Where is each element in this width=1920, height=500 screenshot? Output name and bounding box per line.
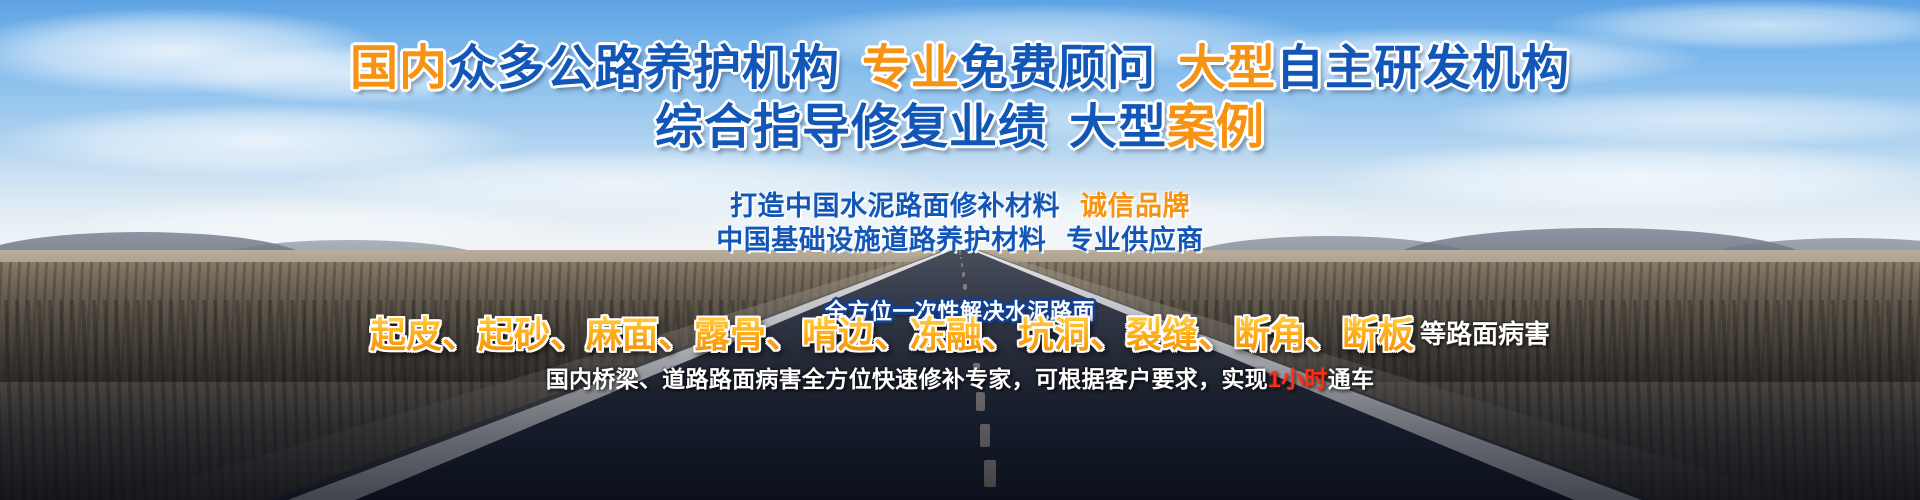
headline-seg-daxing2: 大型 [1069, 101, 1167, 154]
headline-seg-mianfei: 免费顾问 [960, 42, 1156, 95]
subcopy-line-2: 中国基础设施道路养护材料专业供应商 [0, 223, 1920, 258]
subcopy-seg-chengxin: 诚信品牌 [1080, 191, 1190, 221]
claim-prefix: 国内桥梁、道路路面病害全方位快速修补专家，可根据客户要求，实现 [546, 366, 1268, 392]
headline-seg-zhongduo: 众多公路养护机构 [448, 42, 840, 95]
headline-seg-anli: 案例 [1167, 101, 1265, 154]
disease-list-text: 起皮、起砂、麻面、露骨、啃边、冻融、坑洞、裂缝、断角、断板 [370, 314, 1414, 355]
subcopy-seg-zhongguo: 中国基础设施道路养护材料 [716, 225, 1046, 255]
headline-line-1: 国内众多公路养护机构专业免费顾问大型自主研发机构 [0, 45, 1920, 93]
claim-highlight-duration: 1小时 [1268, 366, 1328, 392]
headline-line-2: 综合指导修复业绩大型案例 [0, 104, 1920, 152]
headline-seg-guonei: 国内 [350, 42, 448, 95]
bottom-claim-text: 国内桥梁、道路路面病害全方位快速修补专家，可根据客户要求，实现1小时通车 [0, 360, 1920, 394]
headline-seg-zhuanye: 专业 [862, 42, 960, 95]
disease-list-suffix: 等路面病害 [1420, 319, 1550, 349]
bottom-disease-list: 起皮、起砂、麻面、露骨、啃边、冻融、坑洞、裂缝、断角、断板等路面病害 [0, 316, 1920, 354]
headline-seg-daxing: 大型 [1178, 42, 1276, 95]
headline-seg-zizhu: 自主研发机构 [1276, 42, 1570, 95]
subcopy-seg-dazao: 打造中国水泥路面修补材料 [730, 191, 1060, 221]
claim-suffix: 通车 [1328, 366, 1375, 392]
headline-seg-zonghe: 综合指导修复业绩 [655, 101, 1047, 154]
promo-banner: 国内众多公路养护机构专业免费顾问大型自主研发机构 综合指导修复业绩大型案例 打造… [0, 0, 1920, 500]
subcopy-seg-gongyingshang: 专业供应商 [1066, 225, 1204, 255]
subcopy-line-1: 打造中国水泥路面修补材料诚信品牌 [0, 189, 1920, 224]
